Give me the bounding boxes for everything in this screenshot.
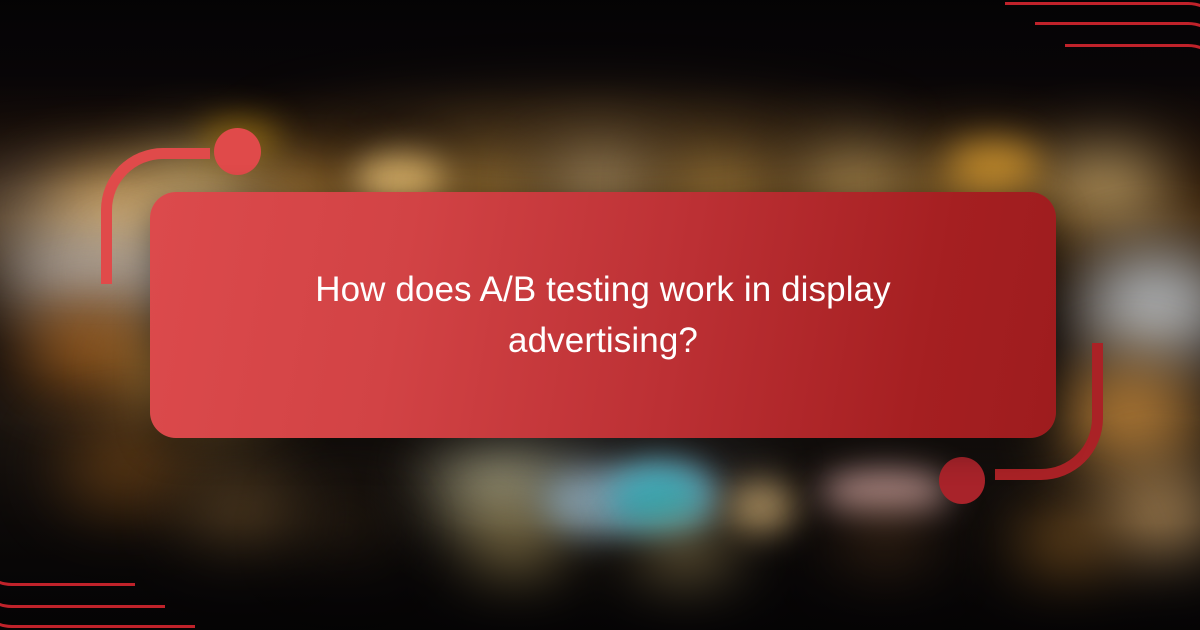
bokeh-light: [1020, 520, 1110, 590]
bokeh-light: [1060, 360, 1200, 470]
question-card: How does A/B testing work in display adv…: [150, 192, 1056, 438]
bokeh-light: [726, 480, 796, 536]
bokeh-light: [1040, 150, 1170, 214]
bokeh-light: [640, 528, 730, 598]
bokeh-light: [840, 520, 930, 580]
bokeh-light: [180, 478, 300, 548]
bokeh-light: [612, 468, 704, 530]
og-image-canvas: How does A/B testing work in display adv…: [0, 0, 1200, 630]
circle-dot-bottom-right-icon: [939, 457, 985, 504]
circle-dot-top-left-icon: [214, 128, 261, 175]
bokeh-light: [470, 520, 560, 590]
bokeh-light: [60, 430, 190, 510]
bokeh-light: [300, 500, 390, 560]
question-title: How does A/B testing work in display adv…: [283, 264, 923, 367]
bokeh-light: [820, 470, 950, 514]
bokeh-light: [950, 140, 1040, 186]
